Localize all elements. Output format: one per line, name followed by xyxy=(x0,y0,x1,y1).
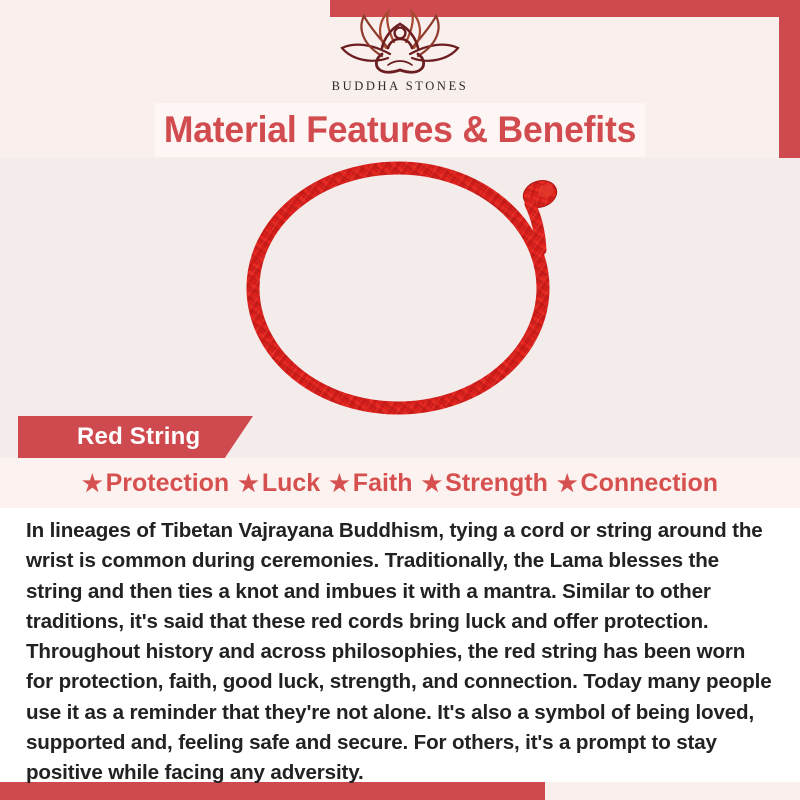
lotus-meditation-figure-icon xyxy=(332,8,468,78)
description-block: In lineages of Tibetan Vajrayana Buddhis… xyxy=(0,508,800,782)
figure-head-icon xyxy=(395,28,406,39)
page-title: Material Features & Benefits xyxy=(164,109,636,151)
benefit-item-luck: ★ Luck xyxy=(229,469,320,498)
benefit-item-strength: ★ Strength xyxy=(413,469,548,498)
product-name: Red String xyxy=(77,423,200,451)
star-icon: ★ xyxy=(82,472,103,495)
benefit-label: Luck xyxy=(262,469,320,498)
brand-logo: BUDDHA STONES xyxy=(0,8,800,100)
star-icon: ★ xyxy=(557,472,578,495)
brand-name: BUDDHA STONES xyxy=(332,79,469,94)
red-braided-bracelet-photo xyxy=(152,158,672,416)
benefit-item-connection: ★ Connection xyxy=(548,469,718,498)
star-icon: ★ xyxy=(422,472,443,495)
infographic-poster: BUDDHA STONES Material Features & Benefi… xyxy=(0,0,800,800)
star-icon: ★ xyxy=(329,472,350,495)
benefits-row: ★ Protection ★ Luck ★ Faith ★ Strength ★… xyxy=(0,458,800,508)
benefit-label: Strength xyxy=(445,469,548,498)
description-text: In lineages of Tibetan Vajrayana Buddhis… xyxy=(26,516,774,789)
star-icon: ★ xyxy=(238,472,259,495)
benefit-item-faith: ★ Faith xyxy=(320,469,412,498)
benefit-item-protection: ★ Protection xyxy=(82,469,229,498)
product-photo-area xyxy=(0,158,800,416)
benefit-label: Connection xyxy=(581,469,719,498)
benefit-label: Protection xyxy=(106,469,230,498)
title-banner: Material Features & Benefits xyxy=(155,103,645,157)
product-name-banner: Red String xyxy=(18,416,253,458)
benefit-label: Faith xyxy=(353,469,413,498)
